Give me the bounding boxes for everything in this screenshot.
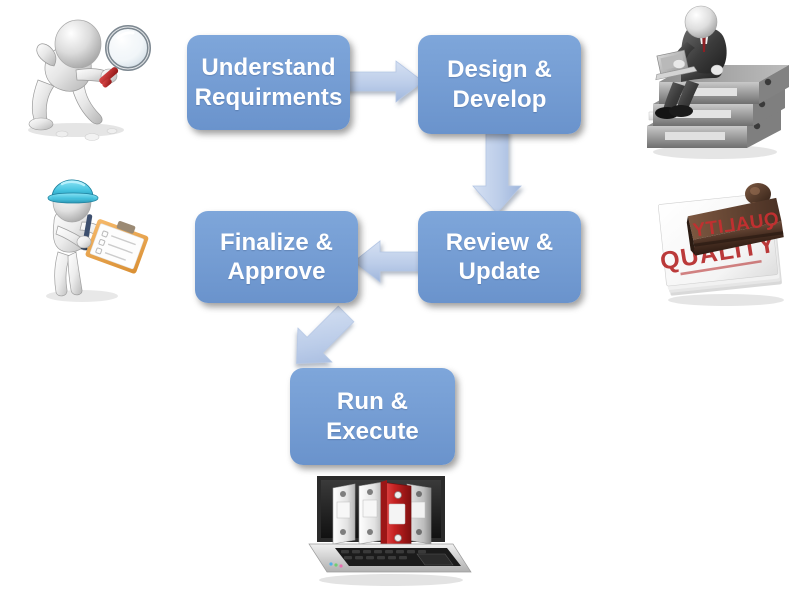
process-node-review-update[interactable]: Review & Update: [418, 211, 581, 303]
process-node-design-develop[interactable]: Design & Develop: [418, 35, 581, 134]
quality-stamp-icon: QUALITY QUALITY: [652, 178, 798, 308]
figure-on-binder-stack-illustration: [635, 8, 790, 160]
laptop-with-binders-icon: [295, 468, 485, 590]
connector-finalize-to-run: [282, 298, 362, 378]
connector-design-to-review: [470, 128, 528, 216]
figure-on-binder-stack-icon: [635, 8, 790, 160]
quality-stamp-illustration: QUALITY QUALITY: [652, 178, 798, 308]
process-node-label: Review & Update: [440, 228, 560, 287]
figure-with-magnifying-glass-icon: [14, 10, 164, 145]
laptop-with-binders-illustration: [295, 468, 485, 590]
arrow-right-icon: [344, 58, 426, 106]
process-node-finalize-approve[interactable]: Finalize & Approve: [195, 211, 358, 303]
process-node-label: Run & Execute: [320, 387, 425, 446]
arrow-diagonal-down-right-icon: [282, 298, 362, 378]
process-node-label: Design & Develop: [441, 55, 558, 114]
diagram-canvas: QUALITY QUALITY: [0, 0, 800, 594]
figure-with-magnifying-glass-illustration: [14, 10, 164, 145]
figure-with-clipboard-illustration: [24, 178, 158, 303]
process-node-run-execute[interactable]: Run & Execute: [290, 368, 455, 465]
figure-with-clipboard-icon: [24, 178, 158, 303]
process-node-understand-requirements[interactable]: Understand Requirments: [187, 35, 350, 130]
process-node-label: Finalize & Approve: [214, 228, 339, 287]
arrow-down-icon: [470, 128, 528, 216]
connector-understand-to-design: [344, 58, 426, 106]
process-node-label: Understand Requirments: [189, 53, 349, 112]
